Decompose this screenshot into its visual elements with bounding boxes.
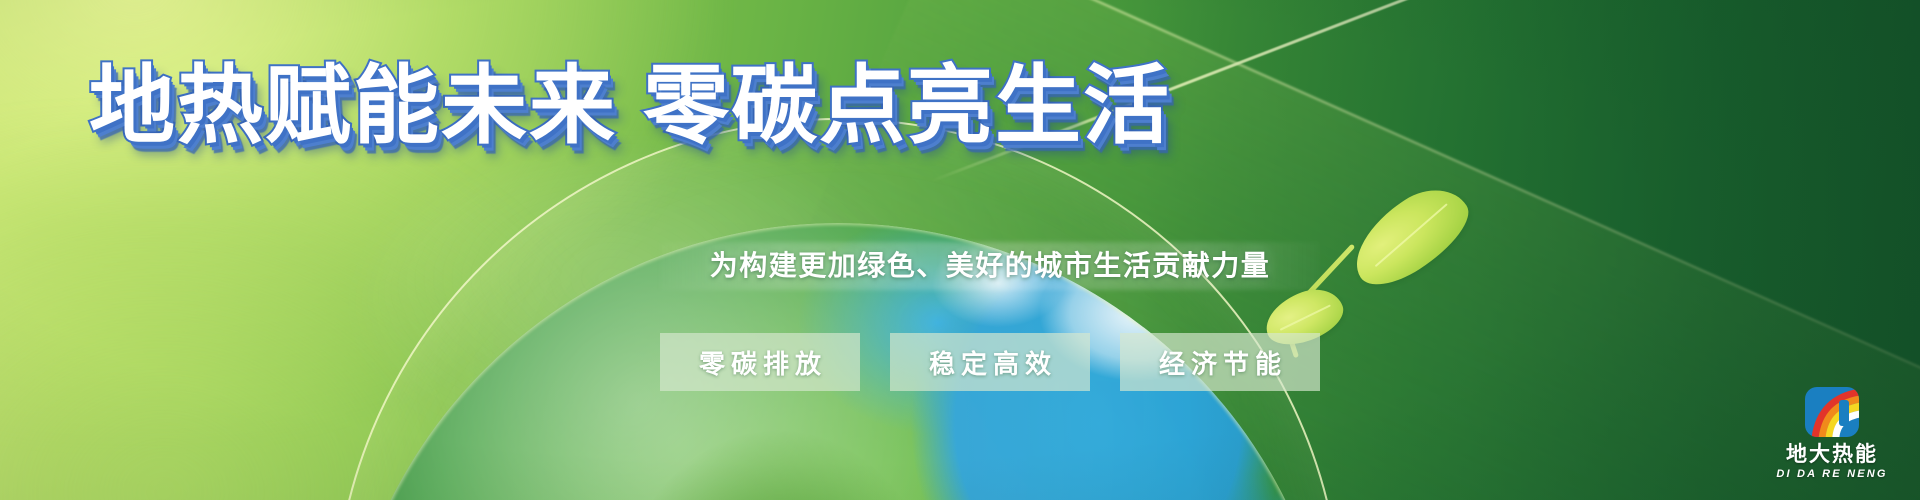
feature-badge-row: 零碳排放 稳定高效 经济节能 — [660, 333, 1320, 391]
page-subtitle: 为构建更加绿色、美好的城市生活贡献力量 — [660, 243, 1320, 289]
brand-logo[interactable]: 地大热能 DI DA RE NENG — [1766, 386, 1898, 490]
logo-name-cn: 地大热能 — [1786, 443, 1878, 467]
logo-name-en: DI DA RE NENG — [1776, 467, 1887, 481]
promo-banner: 地热赋能未来 零碳点亮生活 为构建更加绿色、美好的城市生活贡献力量 零碳排放 稳… — [0, 0, 1920, 500]
page-title: 地热赋能未来 零碳点亮生活 — [0, 54, 1920, 158]
badge-stable-efficient[interactable]: 稳定高效 — [890, 333, 1090, 391]
badge-zero-carbon[interactable]: 零碳排放 — [660, 333, 860, 391]
rainbow-swoosh-icon — [1803, 386, 1861, 440]
badge-economical-energy-saving[interactable]: 经济节能 — [1120, 333, 1320, 391]
